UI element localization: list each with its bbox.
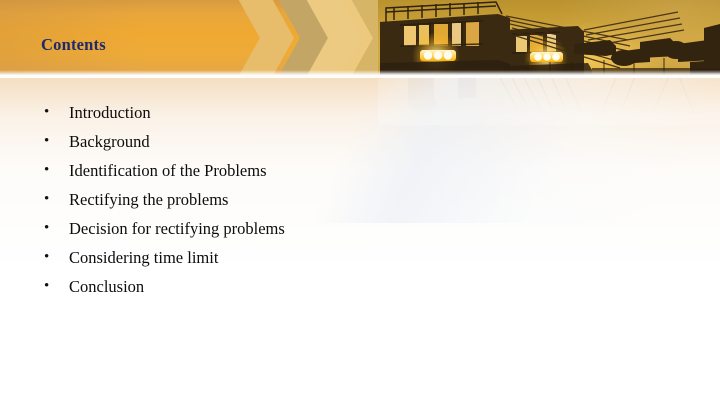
list-item[interactable]: • Rectifying the problems bbox=[0, 185, 600, 214]
presentation-slide: Contents • Introduction • Background • I… bbox=[0, 0, 720, 406]
list-item-label: Conclusion bbox=[69, 277, 144, 296]
list-item-label: Introduction bbox=[69, 103, 151, 122]
list-item[interactable]: • Conclusion bbox=[0, 272, 600, 301]
bullet-icon: • bbox=[44, 156, 49, 185]
bullet-icon: • bbox=[44, 272, 49, 301]
list-item-label: Considering time limit bbox=[69, 248, 218, 267]
mining-excavator-photo bbox=[378, 0, 720, 75]
list-item-label: Background bbox=[69, 132, 150, 151]
slide-header-banner bbox=[0, 0, 720, 75]
contents-list: • Introduction • Background • Identifica… bbox=[0, 98, 600, 301]
bullet-icon: • bbox=[44, 214, 49, 243]
bullet-icon: • bbox=[44, 98, 49, 127]
list-item[interactable]: • Decision for rectifying problems bbox=[0, 214, 600, 243]
list-item[interactable]: • Background bbox=[0, 127, 600, 156]
bullet-icon: • bbox=[44, 185, 49, 214]
list-item-label: Decision for rectifying problems bbox=[69, 219, 285, 238]
list-item[interactable]: • Considering time limit bbox=[0, 243, 600, 272]
page-title: Contents bbox=[41, 35, 106, 55]
list-item[interactable]: • Introduction bbox=[0, 98, 600, 127]
bullet-icon: • bbox=[44, 127, 49, 156]
list-item[interactable]: • Identification of the Problems bbox=[0, 156, 600, 185]
list-item-label: Rectifying the problems bbox=[69, 190, 228, 209]
list-item-label: Identification of the Problems bbox=[69, 161, 267, 180]
bullet-icon: • bbox=[44, 243, 49, 272]
